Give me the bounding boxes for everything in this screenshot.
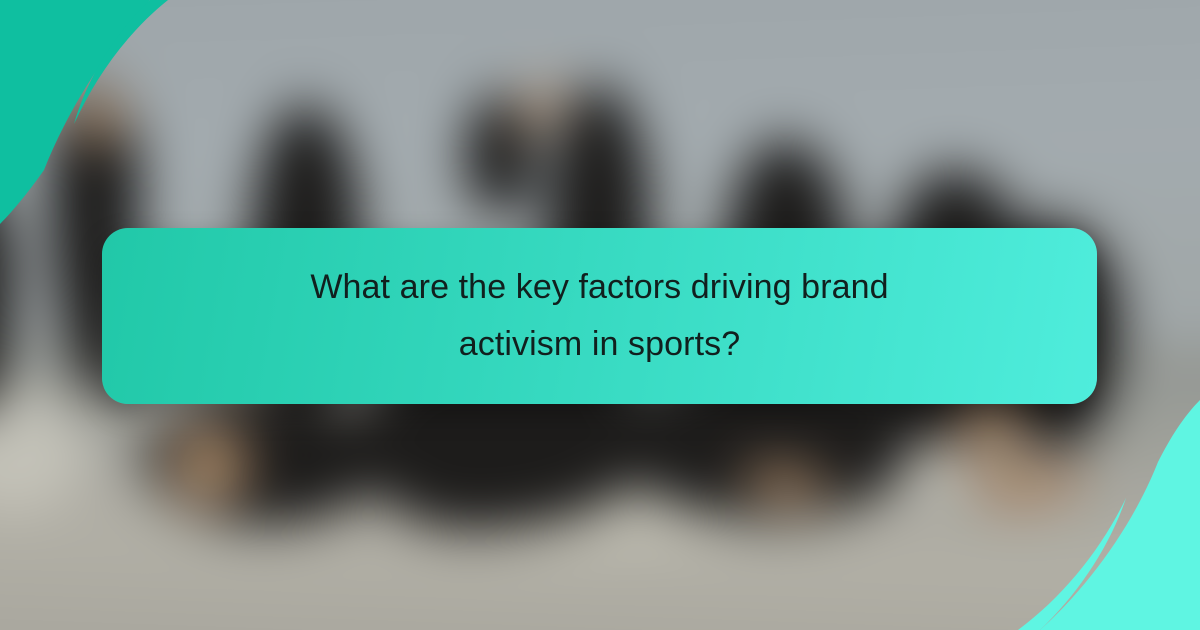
social-card-canvas: What are the key factors driving brand a… (0, 0, 1200, 630)
background-limb (75, 88, 121, 146)
background-limb (170, 425, 250, 505)
question-text: What are the key factors driving brand a… (250, 259, 950, 373)
question-card: What are the key factors driving brand a… (102, 228, 1097, 404)
